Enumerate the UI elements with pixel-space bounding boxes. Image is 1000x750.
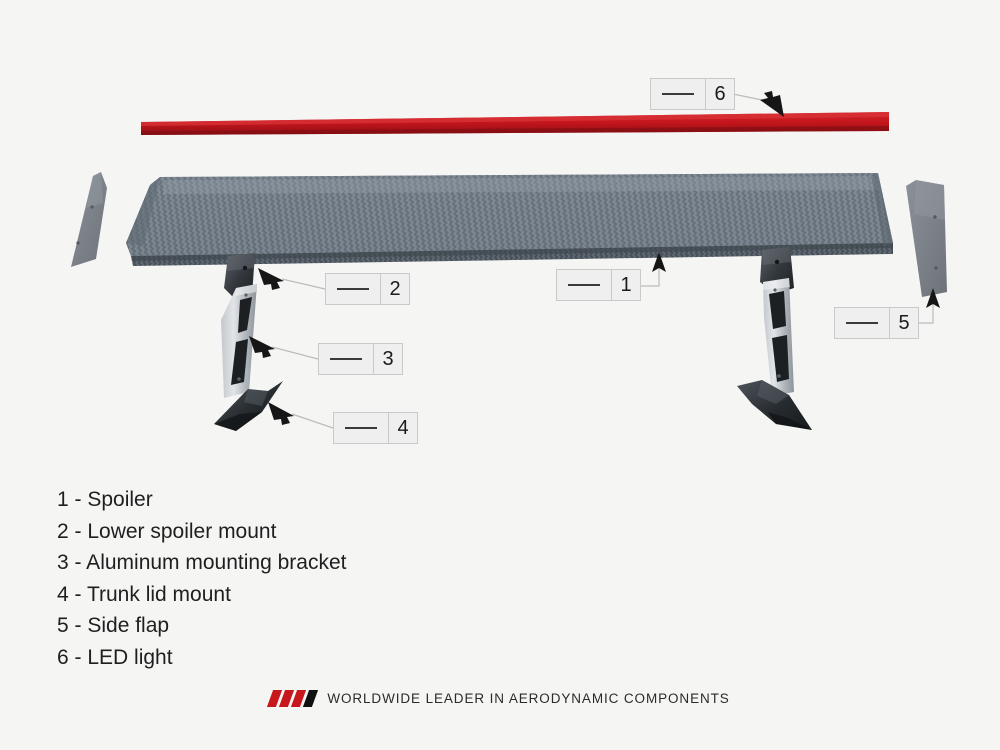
legend-item-2: 2 - Lower spoiler mount: [57, 516, 346, 548]
footer-branding: WORLDWIDE LEADER IN AERODYNAMIC COMPONEN…: [0, 690, 1000, 707]
led-light-strip: [141, 112, 889, 135]
diagram-canvas: 1 2 3 4 5 6 1 - Spoiler 2 - Lower spoile…: [0, 0, 1000, 750]
callout-number: 3: [374, 344, 402, 374]
callout-box-5[interactable]: 5: [834, 307, 919, 339]
callout-dash: [651, 79, 706, 109]
callout-box-6[interactable]: 6: [650, 78, 735, 110]
legend-item-5: 5 - Side flap: [57, 610, 346, 642]
brand-tagline: WORLDWIDE LEADER IN AERODYNAMIC COMPONEN…: [327, 691, 729, 706]
callout-box-3[interactable]: 3: [318, 343, 403, 375]
callout-box-4[interactable]: 4: [333, 412, 418, 444]
callout-number: 1: [612, 270, 640, 300]
callout-number: 6: [706, 79, 734, 109]
side-flap-right: [906, 180, 947, 297]
legend-item-3: 3 - Aluminum mounting bracket: [57, 547, 346, 579]
callout-box-2[interactable]: 2: [325, 273, 410, 305]
callout-dash: [557, 270, 612, 300]
callout-number: 2: [381, 274, 409, 304]
trunk-lid-mount-right: [737, 380, 812, 430]
callout-number: 5: [890, 308, 918, 338]
callout-box-1[interactable]: 1: [556, 269, 641, 301]
callout-dash: [334, 413, 389, 443]
legend-item-4: 4 - Trunk lid mount: [57, 579, 346, 611]
callout-dash: [326, 274, 381, 304]
legend-item-6: 6 - LED light: [57, 642, 346, 674]
parts-legend: 1 - Spoiler 2 - Lower spoiler mount 3 - …: [57, 484, 346, 673]
legend-item-1: 1 - Spoiler: [57, 484, 346, 516]
callout-number: 4: [389, 413, 417, 443]
side-flap-left: [71, 172, 107, 267]
callout-dash: [319, 344, 374, 374]
brand-logo-icon: [270, 690, 315, 707]
callout-dash: [835, 308, 890, 338]
aluminum-bracket-right: [763, 278, 794, 396]
